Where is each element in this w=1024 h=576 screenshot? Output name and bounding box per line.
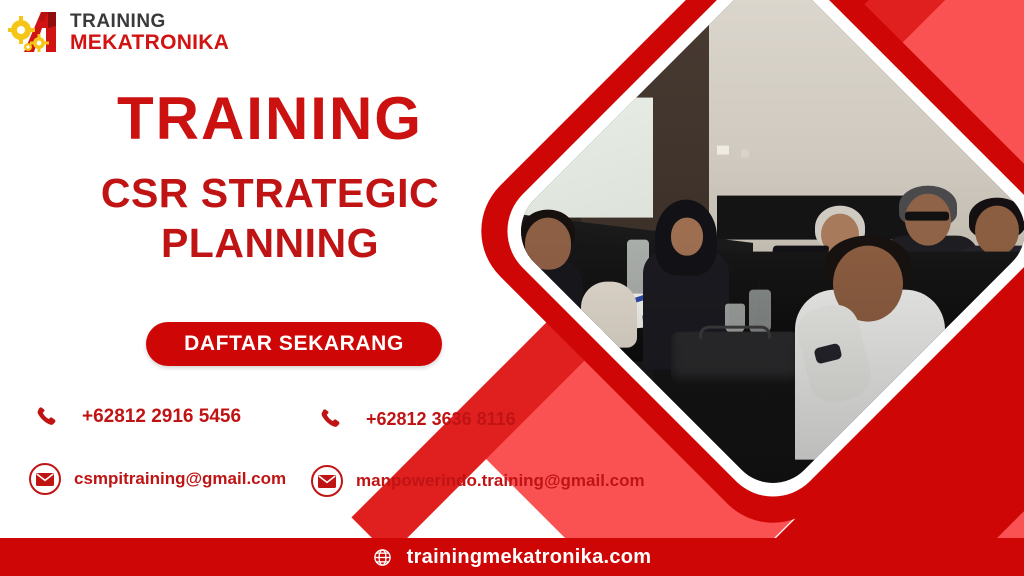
contact-phone-1-value: +62812 2916 5456 bbox=[82, 406, 241, 428]
contact-email-2-value: manpowerindo.training@gmail.com bbox=[356, 471, 645, 491]
contact-phone-2-value: +62812 3636 8116 bbox=[366, 409, 516, 430]
brand-logo-text: TRAINING MEKATRONIKA bbox=[70, 12, 229, 54]
phone-icon bbox=[34, 404, 60, 430]
photo-frame bbox=[548, 6, 998, 456]
register-button[interactable]: DAFTAR SEKARANG bbox=[146, 322, 442, 366]
page-title: TRAINING bbox=[24, 88, 516, 150]
page-subtitle: CSR STRATEGIC PLANNING bbox=[24, 168, 516, 268]
training-meeting-room-photo bbox=[503, 0, 1024, 501]
contact-phone-1[interactable]: +62812 2916 5456 bbox=[34, 404, 241, 430]
brand-logo[interactable]: TRAINING MEKATRONIKA bbox=[8, 6, 214, 62]
contact-email-1[interactable]: csmpitraining@gmail.com bbox=[28, 462, 286, 496]
envelope-icon bbox=[28, 462, 62, 496]
poster-canvas: TRAINING MEKATRONIKA TRAINING CSR STRATE… bbox=[0, 0, 1024, 576]
gear-m-logo-icon bbox=[8, 6, 72, 58]
page-subtitle-line1: CSR STRATEGIC bbox=[24, 168, 516, 218]
brand-logo-line2: MEKATRONIKA bbox=[70, 32, 229, 54]
envelope-icon bbox=[310, 464, 344, 498]
brand-logo-line1: TRAINING bbox=[70, 12, 229, 32]
contact-phone-2[interactable]: +62812 3636 8116 bbox=[318, 406, 516, 432]
footer-website: trainingmekatronika.com bbox=[407, 546, 652, 569]
page-subtitle-line2: PLANNING bbox=[24, 218, 516, 268]
footer-bar: trainingmekatronika.com bbox=[0, 538, 1024, 576]
contact-email-1-value: csmpitraining@gmail.com bbox=[74, 469, 286, 489]
phone-icon bbox=[318, 406, 344, 432]
globe-icon bbox=[373, 547, 393, 567]
contact-email-2[interactable]: manpowerindo.training@gmail.com bbox=[310, 464, 645, 498]
